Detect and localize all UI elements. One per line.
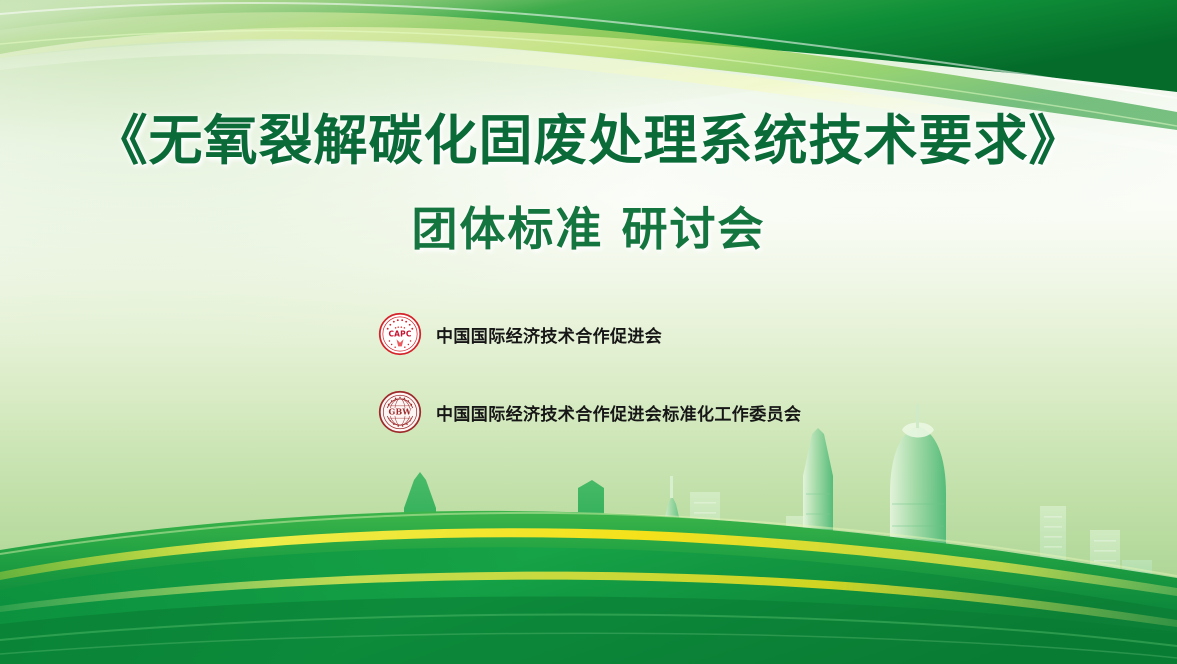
svg-text:GBW: GBW [389,407,412,416]
organization-row-gbw: GBW 中国国际经济技术合作促进会标准化工作委员会 [378,390,801,434]
page-title: 《无氧裂解碳化固废处理系统技术要求》 [0,112,1177,170]
page-subtitle: 团体标准 研讨会 [0,204,1177,255]
organization-name-capc: 中国国际经济技术合作促进会 [436,322,662,347]
organization-name-gbw: 中国国际经济技术合作促进会标准化工作委员会 [436,400,801,425]
slide-content: 《无氧裂解碳化固废处理系统技术要求》 团体标准 研讨会 [0,0,1177,664]
title-slide: 《无氧裂解碳化固废处理系统技术要求》 团体标准 研讨会 [0,0,1177,664]
organization-row-capc: CAPC 中国国际经济技术合作促进会 [378,312,662,356]
svg-text:CAPC: CAPC [388,329,411,338]
gbw-seal-icon: GBW [378,390,422,434]
capc-seal-icon: CAPC [378,312,422,356]
